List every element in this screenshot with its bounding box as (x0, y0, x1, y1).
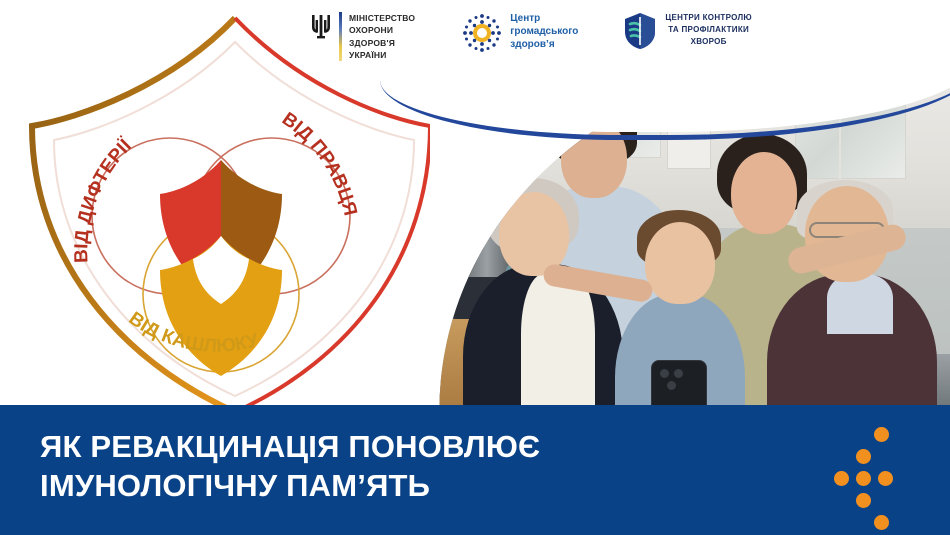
logo-divider (339, 12, 342, 61)
dotted-sun-icon (461, 12, 503, 54)
dot (856, 471, 871, 486)
page-title: ЯК РЕВАКЦИНАЦІЯ ПОНОВЛЮЄ ІМУНОЛОГІЧНУ ПА… (40, 427, 680, 505)
dot (856, 449, 871, 464)
poster: ВІД ДИФТЕРІЇ ВІД ПРАВЦЯ ВІД КАШЛЮКУ (0, 0, 950, 535)
headline-banner: ЯК РЕВАКЦИНАЦІЯ ПОНОВЛЮЄ ІМУНОЛОГІЧНУ ПА… (0, 405, 950, 535)
shield-waves-icon (624, 12, 656, 50)
dot (874, 427, 889, 442)
dot (874, 515, 889, 530)
logo-cdc: ЦЕНТРИ КОНТРОЛЮ ТА ПРОФІЛАКТИКИ ХВОРОБ (624, 12, 752, 50)
ukraine-trident-icon (310, 12, 332, 42)
dot (834, 471, 849, 486)
logo-row: МІНІСТЕРСТВО ОХОРОНИ ЗДОРОВ'Я УКРАЇНИ (310, 12, 752, 61)
headline-line-2: ІМУНОЛОГІЧНУ ПАМ’ЯТЬ (40, 466, 680, 505)
vaccination-shield-emblem: ВІД ДИФТЕРІЇ ВІД ПРАВЦЯ ВІД КАШЛЮКУ (10, 8, 430, 418)
cdc-logo-text: ЦЕНТРИ КОНТРОЛЮ ТА ПРОФІЛАКТИКИ ХВОРОБ (665, 12, 752, 48)
smartphone (651, 360, 707, 410)
logo-public-health-center: Центр громадського здоров’я (461, 12, 578, 54)
logo-ministry-of-health: МІНІСТЕРСТВО ОХОРОНИ ЗДОРОВ'Я УКРАЇНИ (310, 12, 415, 61)
headline-line-1: ЯК РЕВАКЦИНАЦІЯ ПОНОВЛЮЄ (40, 427, 680, 466)
ministry-logo-text: МІНІСТЕРСТВО ОХОРОНИ ЗДОРОВ'Я УКРАЇНИ (349, 12, 415, 61)
decorative-dot-pattern (822, 417, 932, 527)
dot (878, 471, 893, 486)
dot (856, 493, 871, 508)
public-health-center-logo-text: Центр громадського здоров’я (510, 12, 578, 51)
